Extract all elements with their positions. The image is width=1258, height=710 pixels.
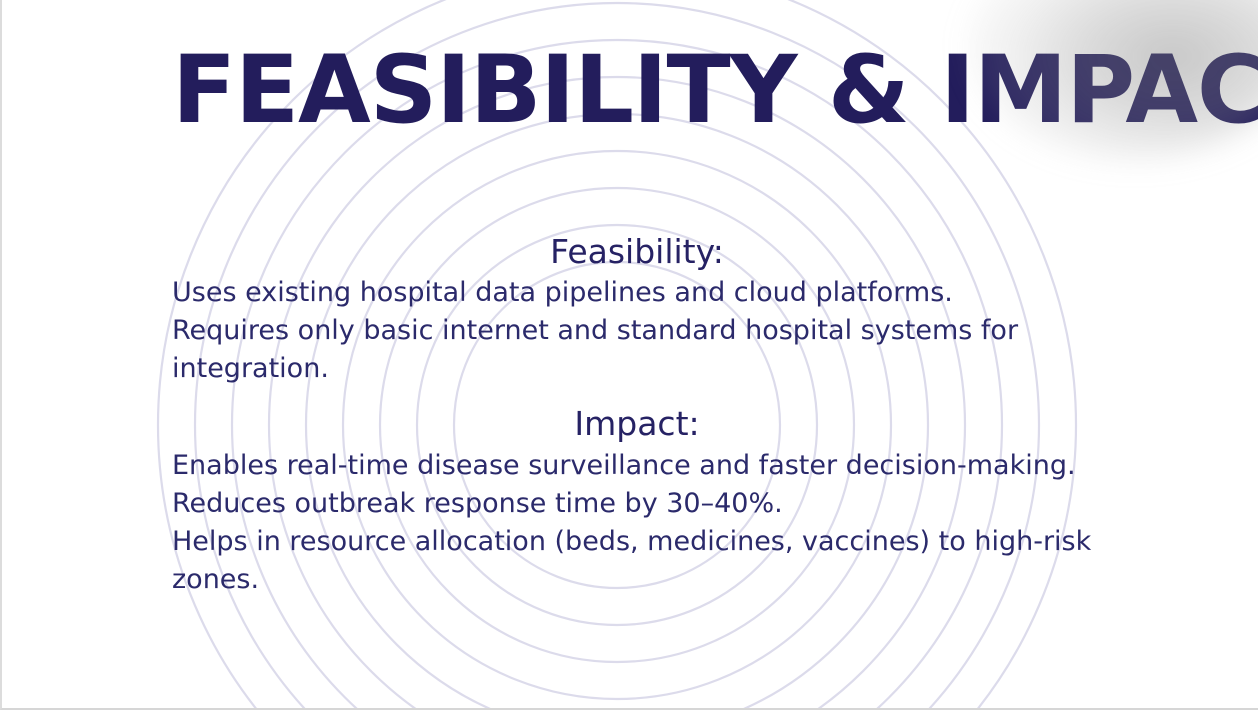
feasibility-line-2: Requires only basic internet and standar… xyxy=(172,312,1102,388)
impact-line-2: Reduces outbreak response time by 30–40%… xyxy=(172,485,1102,523)
body-block: Feasibility: Uses existing hospital data… xyxy=(172,232,1102,599)
impact-line-3: Helps in resource allocation (beds, medi… xyxy=(172,523,1102,599)
impact-line-1: Enables real-time disease surveillance a… xyxy=(172,447,1102,485)
section-heading-impact: Impact: xyxy=(172,404,1102,444)
section-heading-feasibility: Feasibility: xyxy=(172,232,1102,272)
slide-canvas: FEASIBILITY & IMPACT Feasibility: Uses e… xyxy=(0,0,1258,710)
feasibility-line-1: Uses existing hospital data pipelines an… xyxy=(172,274,1102,312)
page-title: FEASIBILITY & IMPACT xyxy=(172,41,1172,141)
slide-content: FEASIBILITY & IMPACT Feasibility: Uses e… xyxy=(2,0,1258,708)
